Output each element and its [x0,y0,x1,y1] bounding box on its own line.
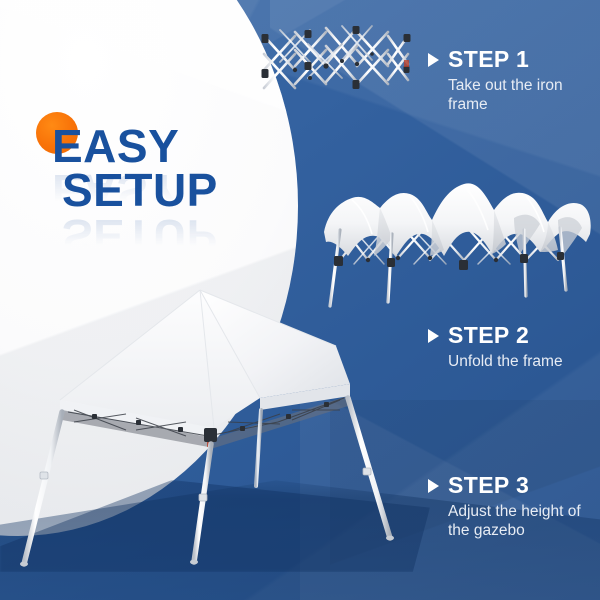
step-2-description: Unfold the frame [448,352,563,371]
step-block-1: STEP 1 Take out the iron frame [428,46,600,114]
step-1-title-row: STEP 1 [428,46,600,73]
step-2-title: STEP 2 [448,322,529,349]
step-1-description: Take out the iron frame [448,76,600,114]
step-3-title: STEP 3 [448,472,529,499]
triangle-right-icon [428,53,439,67]
step-1-title: STEP 1 [448,46,529,73]
infographic-canvas: EASY SETUP EASY SETUP [0,0,600,600]
step-block-3: STEP 3 Adjust the height of the gazebo [428,472,600,540]
triangle-right-icon [428,479,439,493]
step-3-title-row: STEP 3 [428,472,600,499]
triangle-right-icon [428,329,439,343]
folded-iron-frame-image [250,14,420,144]
step-block-2: STEP 2 Unfold the frame [428,322,563,371]
step-3-description: Adjust the height of the gazebo [448,502,600,540]
assembled-gazebo-image [18,272,408,572]
step-2-title-row: STEP 2 [428,322,563,349]
